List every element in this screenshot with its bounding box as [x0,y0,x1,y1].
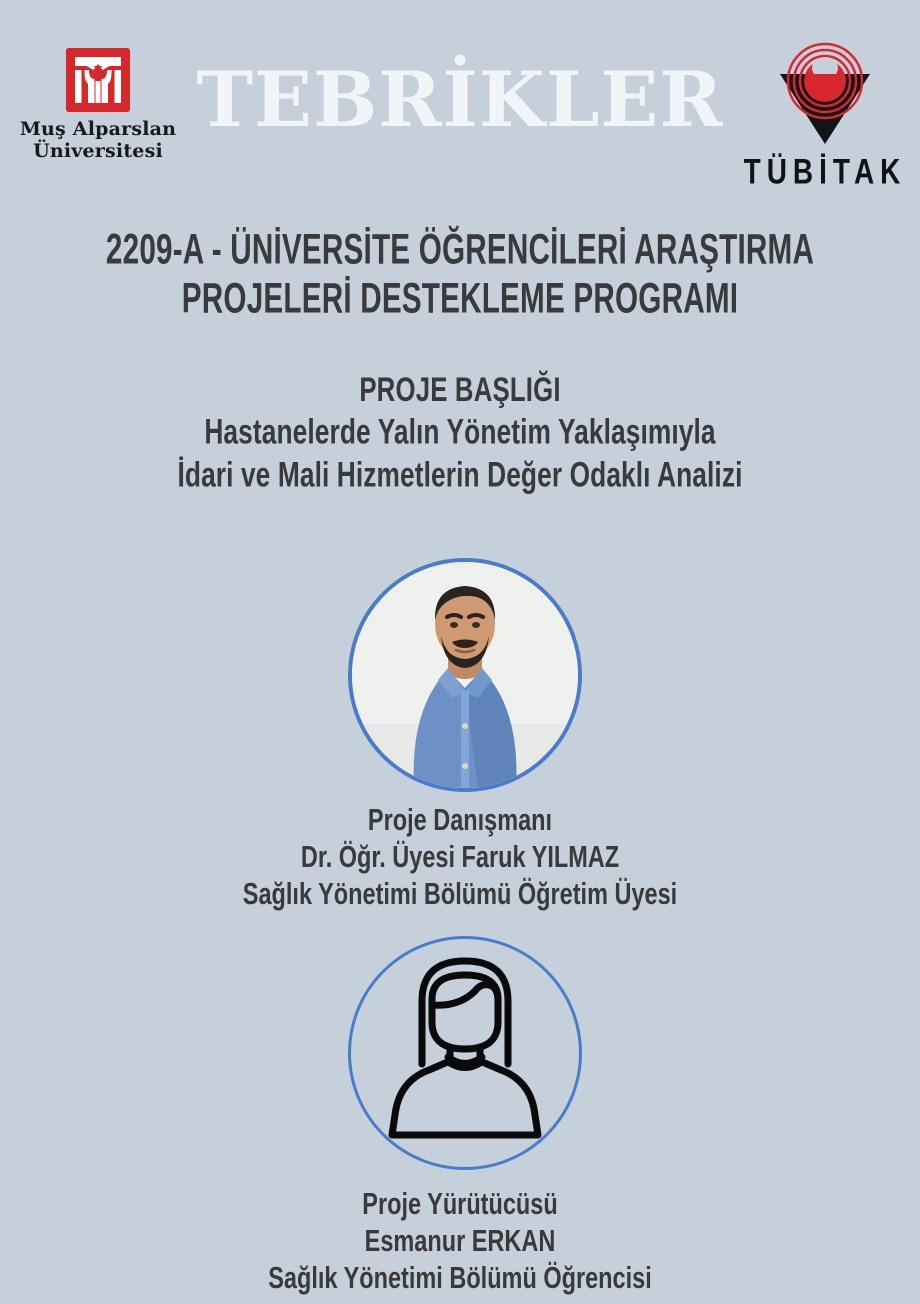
student-info: Proje Yürütücüsü Esmanur ERKAN Sağlık Yö… [60,1192,860,1303]
advisor-info: Proje Danışmanı Dr. Öğr. Üyesi Faruk YIL… [60,808,860,919]
program-title-line2: PROJELERİ DESTEKLEME PROGRAMI [73,276,847,319]
student-affiliation: Sağlık Yönetimi Bölümü Öğrencisi [84,1263,836,1294]
university-name-line1: Muş Alparslan [20,118,176,140]
tubitak-logo-block: TÜBİTAK [740,40,910,184]
program-title: 2209-A - ÜNİVERSİTE ÖĞRENCİLERİ ARAŞTIRM… [30,232,890,330]
university-logo-block: Muş Alparslan Üniversitesi [8,48,188,163]
project-title-line2: İdari ve Mali Hizmetlerin Değer Odaklı A… [65,458,855,493]
project-title-block: PROJE BAŞLIĞI Hastanelerde Yalın Yönetim… [40,376,880,504]
tubitak-wordmark: TÜBİTAK [740,152,910,192]
student-role: Proje Yürütücüsü [84,1189,836,1220]
student-avatar-placeholder-icon [348,936,582,1170]
congratulations-poster: TEBRİKLER Muş Alparsl [0,0,920,1304]
poster-header: TEBRİKLER Muş Alparsl [0,0,920,210]
advisor-photo [348,558,582,792]
student-name: Esmanur ERKAN [84,1226,836,1257]
advisor-name: Dr. Öğr. Üyesi Faruk YILMAZ [84,842,836,873]
program-title-line1: 2209-A - ÜNİVERSİTE ÖĞRENCİLERİ ARAŞTIRM… [73,227,847,270]
mus-alparslan-university-logo-icon [66,48,130,112]
advisor-role: Proje Danışmanı [84,805,836,836]
university-name: Muş Alparslan Üniversitesi [8,118,188,163]
tubitak-logo-icon [762,40,888,148]
project-title-label: PROJE BAŞLIĞI [74,373,847,407]
project-title-line1: Hastanelerde Yalın Yönetim Yaklaşımıyla [65,415,855,450]
university-name-line2: Üniversitesi [33,140,163,162]
advisor-affiliation: Sağlık Yönetimi Bölümü Öğretim Üyesi [84,879,836,910]
